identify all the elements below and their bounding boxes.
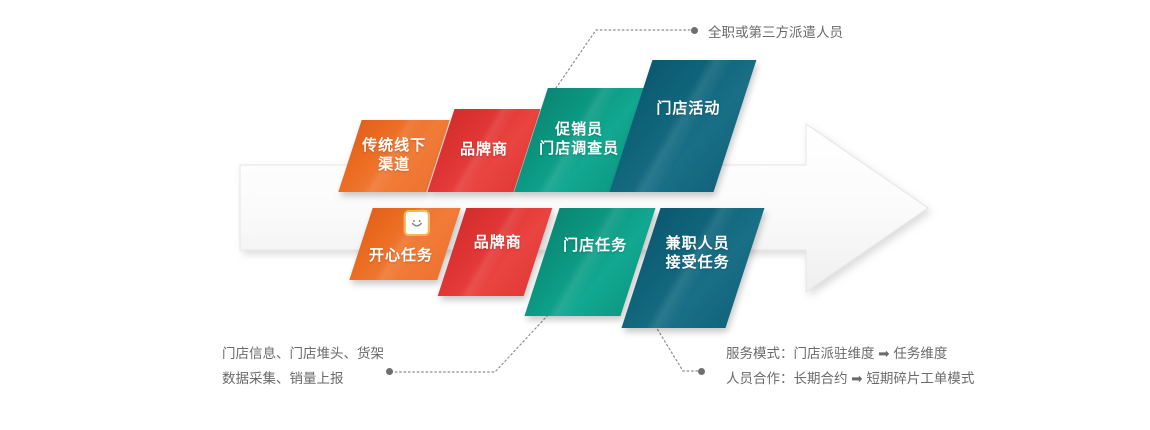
diagram-canvas: 传统线下 渠道 品牌商 促销员 门店调查员 门店活动 开心任务 品牌商 门店任务… xyxy=(0,0,1150,430)
block-parttime-accept-label: 兼职人员 接受任务 xyxy=(666,235,730,273)
block-brand-owner-bottom-label: 品牌商 xyxy=(474,234,522,253)
block-store-activity-label: 门店活动 xyxy=(657,100,721,119)
annotation-staffing: 全职或第三方派遣人员 xyxy=(708,20,843,45)
annotation-service-model: 服务模式：门店派驻维度 ➡ 任务维度 人员合作：长期合约 ➡ 短期碎片工单模式 xyxy=(726,341,974,391)
block-brand-owner-top-label: 品牌商 xyxy=(460,141,508,160)
annotation-dot-bottom-right xyxy=(698,368,705,375)
block-trad-channel-label: 传统线下 渠道 xyxy=(362,137,426,175)
annotation-service-model-line-2: 人员合作：长期合约 ➡ 短期碎片工单模式 xyxy=(726,366,974,391)
connector-bottom-right xyxy=(653,322,700,371)
smiley-glyph xyxy=(409,215,425,231)
block-promoter-label: 促销员 门店调查员 xyxy=(539,121,619,159)
connector-bottom-left xyxy=(390,315,548,372)
annotation-data-collection-line-1: 门店信息、门店堆头、货架 xyxy=(222,341,384,366)
annotation-staffing-line-1: 全职或第三方派遣人员 xyxy=(708,20,843,45)
smiley-icon xyxy=(404,210,430,236)
annotation-data-collection: 门店信息、门店堆头、货架 数据采集、销量上报 xyxy=(222,341,384,391)
annotation-dot-bottom-left xyxy=(386,368,393,375)
annotation-service-model-line-1: 服务模式：门店派驻维度 ➡ 任务维度 xyxy=(726,341,974,366)
annotation-dot-top xyxy=(691,27,698,34)
annotation-data-collection-line-2: 数据采集、销量上报 xyxy=(222,366,384,391)
block-store-task-label: 门店任务 xyxy=(563,237,627,256)
block-happy-task-label: 开心任务 xyxy=(369,247,433,266)
